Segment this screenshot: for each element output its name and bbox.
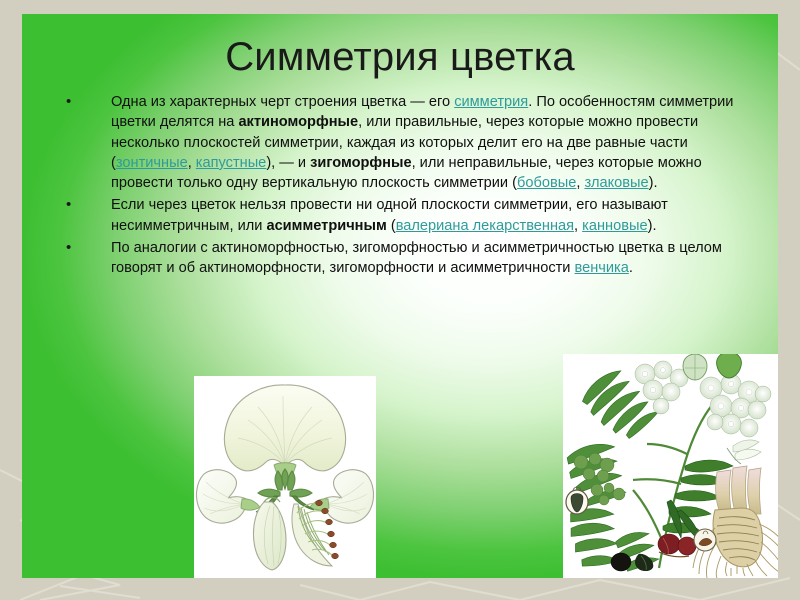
- text-run: .: [629, 260, 633, 276]
- text-run: Одна из характерных черт строения цветка…: [111, 94, 454, 110]
- valerian-illustration-image: [563, 354, 778, 578]
- bullet-marker-icon: •: [66, 238, 71, 258]
- inline-link[interactable]: капустные: [196, 155, 267, 171]
- inline-link[interactable]: симметрия: [454, 94, 528, 110]
- inline-link[interactable]: канновые: [582, 218, 647, 234]
- inline-link[interactable]: зонтичные: [116, 155, 188, 171]
- text-run: (: [387, 218, 396, 234]
- inline-link[interactable]: венчика: [575, 260, 629, 276]
- bullet-paragraph-1: • Одна из характерных черт строения цвет…: [58, 92, 758, 193]
- text-run: ).: [649, 175, 658, 191]
- text-run: ,: [188, 155, 196, 171]
- paragraph-text: Если через цветок нельзя провести ни одн…: [111, 197, 668, 233]
- slide-canvas: Симметрия цветка • Одна из характерных ч…: [22, 14, 778, 578]
- bullet-paragraph-3: • По аналогии с актиноморфностью, зигомо…: [58, 238, 758, 279]
- emphasized-term: зигоморфные: [310, 155, 411, 171]
- bullet-marker-icon: •: [66, 195, 71, 215]
- inline-link[interactable]: бобовые: [517, 175, 576, 191]
- bullet-marker-icon: •: [66, 92, 71, 112]
- text-run: ,: [574, 218, 582, 234]
- slide-body-text: • Одна из характерных черт строения цвет…: [58, 92, 758, 281]
- emphasized-term: асимметричным: [266, 218, 386, 234]
- legume-flower-image: [194, 376, 376, 578]
- text-run: ).: [648, 218, 657, 234]
- paragraph-text: По аналогии с актиноморфностью, зигоморф…: [111, 240, 722, 276]
- page-title: Симметрия цветка: [22, 35, 778, 80]
- inline-link[interactable]: валериана лекарственная: [396, 218, 574, 234]
- valerian-botanical-drawing: [563, 354, 778, 578]
- paragraph-text: Одна из характерных черт строения цветка…: [111, 94, 733, 191]
- bullet-paragraph-2: • Если через цветок нельзя провести ни о…: [58, 195, 758, 236]
- legume-flower-drawing: [194, 376, 376, 578]
- emphasized-term: актиноморфные: [238, 114, 358, 130]
- inline-link[interactable]: злаковые: [584, 175, 648, 191]
- text-run: ), — и: [266, 155, 310, 171]
